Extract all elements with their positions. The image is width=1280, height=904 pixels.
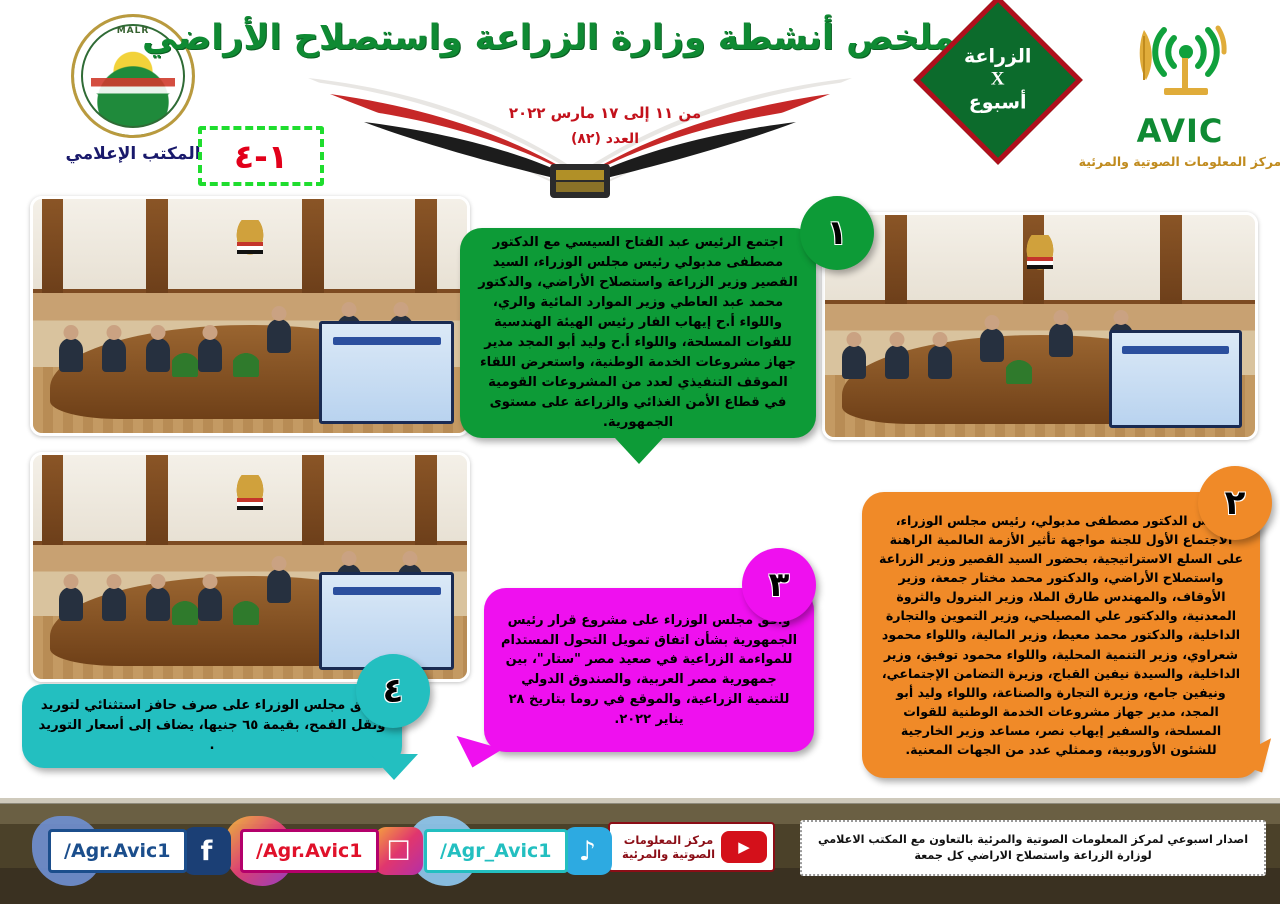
news-item-3-text: وافق مجلس الوزراء على مشروع قرار رئيس ال… (484, 601, 814, 740)
news-item-1-number: ١ (800, 196, 874, 270)
news-item-4-pointer (370, 754, 418, 780)
facebook-handle: /Agr.Avic1 (64, 840, 171, 862)
social-link-facebook[interactable]: f /Agr.Avic1 (48, 825, 231, 877)
news-item-2: ترأس الدكتور مصطفى مدبولي، رئيس مجلس الو… (862, 492, 1260, 778)
news-item-1-pointer (615, 438, 663, 464)
issue-number: العدد (٨٢) (255, 131, 955, 147)
news-item-3-number: ٣ (742, 548, 816, 622)
instagram-icon: ☐ (375, 827, 423, 875)
meeting-photo-3 (30, 452, 470, 682)
youtube-icon: ▶ (721, 831, 767, 863)
page-title: ملخص أنشطة وزارة الزراعة واستصلاح الأراض… (255, 18, 955, 58)
week-badge-line2: X (964, 69, 1031, 92)
news-item-2-number: ٢ (1198, 466, 1272, 540)
news-item-1-text: اجتمع الرئيس عبد الفتاح السيسي مع الدكتو… (460, 223, 816, 444)
youtube-label-line2: الصوتية والمرئية (622, 847, 715, 861)
youtube-label-line1: مركز المعلومات (622, 833, 715, 847)
twitter-handle: /Agr_Avic1 (440, 840, 552, 862)
infographic-page: MALR المكتب الإعلامي ١-٤ ملخص أنشطة وزار… (0, 0, 1280, 904)
social-link-youtube[interactable]: ▶ مركز المعلومات الصوتية والمرئية (608, 822, 775, 872)
meeting-photo-2 (822, 212, 1258, 440)
avic-logo: AVIC مركز المعلومات الصوتية والمرئية (1090, 22, 1270, 169)
avic-broadcast-icon (1120, 22, 1240, 118)
news-item-2-text: ترأس الدكتور مصطفى مدبولي، رئيس مجلس الو… (862, 501, 1260, 770)
news-item-1: اجتمع الرئيس عبد الفتاح السيسي مع الدكتو… (460, 228, 816, 438)
avic-subtitle: مركز المعلومات الصوتية والمرئية (1079, 154, 1280, 169)
instagram-handle: /Agr.Avic1 (256, 840, 363, 862)
social-link-instagram[interactable]: ☐ /Agr.Avic1 (240, 825, 423, 877)
facebook-icon: f (183, 827, 231, 875)
meeting-photo-1 (30, 196, 470, 436)
news-item-4: وافق مجلس الوزراء على صرف حافز استثنائي … (22, 684, 402, 768)
social-link-twitter[interactable]: ♪ /Agr_Avic1 (424, 825, 612, 877)
news-item-4-text: وافق مجلس الوزراء على صرف حافز استثنائي … (22, 686, 402, 766)
date-range: من ١١ إلى ١٧ مارس ٢٠٢٢ (255, 104, 955, 122)
week-badge-line1: الزراعة (964, 46, 1031, 69)
header: MALR المكتب الإعلامي ١-٤ ملخص أنشطة وزار… (0, 0, 1280, 200)
news-item-4-number: ٤ (356, 654, 430, 728)
title-block: ملخص أنشطة وزارة الزراعة واستصلاح الأراض… (255, 18, 955, 147)
media-office-label: المكتب الإعلامي (65, 144, 200, 164)
footer-note: اصدار اسبوعي لمركز المعلومات الصوتية وال… (800, 820, 1266, 876)
footer-note-text: اصدار اسبوعي لمركز المعلومات الصوتية وال… (802, 832, 1264, 863)
week-badge-line3: أسبوع (964, 91, 1031, 114)
twitter-icon: ♪ (564, 827, 612, 875)
